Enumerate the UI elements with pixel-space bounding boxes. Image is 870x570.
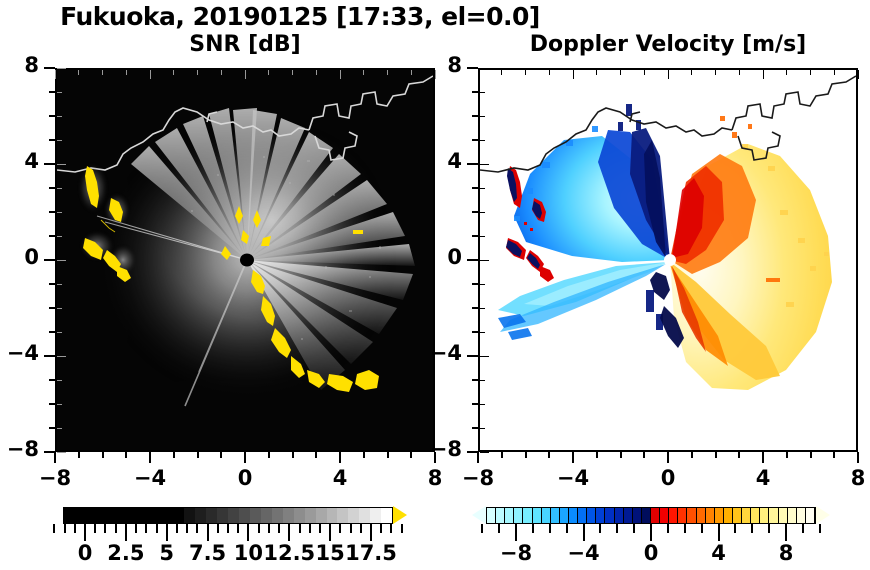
snr-colorbar-tick — [217, 524, 219, 533]
doppler-colorbar-swatch-32 — [779, 508, 788, 523]
doppler-colorbar-tick — [751, 524, 753, 533]
snr-colorbar-tick — [237, 524, 239, 533]
snr-colorbar-swatch-7 — [141, 508, 152, 523]
doppler-colorbar-swatch-4 — [523, 508, 532, 523]
doppler-colorbar-swatch-15 — [624, 508, 633, 523]
doppler-colorbar[interactable] — [486, 507, 816, 524]
snr-colorbar-swatch-1 — [75, 508, 86, 523]
doppler-colorbar-swatch-19 — [660, 508, 669, 523]
doppler-colorbar-swatch-2 — [505, 508, 514, 523]
snr-colorbar-tick — [278, 524, 280, 533]
doppler-colorbar-swatch-22 — [687, 508, 696, 523]
snr-colorbar-swatch-16 — [239, 508, 250, 523]
snr-colorbar-swatch-0 — [64, 508, 75, 523]
doppler-colorbar-swatch-26 — [724, 508, 733, 523]
snr-colorbar-swatch-19 — [272, 508, 283, 523]
snr-colorbar-swatch-17 — [250, 508, 261, 523]
snr-colorbar-swatch-20 — [283, 508, 294, 523]
snr-colorbar[interactable] — [63, 507, 393, 524]
snr-colorbar-tick — [53, 524, 55, 533]
snr-colorbar-swatch-6 — [130, 508, 141, 523]
snr-colorbar-swatch-9 — [162, 508, 173, 523]
doppler-colorbar-swatch-16 — [633, 508, 642, 523]
doppler-colorbar-swatch-21 — [678, 508, 687, 523]
doppler-colorbar-tick — [616, 524, 618, 533]
doppler-colorbar-tick — [532, 524, 534, 533]
snr-colorbar-swatch-8 — [152, 508, 163, 523]
snr-colorbar-swatch-26 — [348, 508, 359, 523]
doppler-colorbar-swatch-20 — [669, 508, 678, 523]
snr-colorbar-swatch-5 — [119, 508, 130, 523]
doppler-colorbar-swatch-35 — [806, 508, 815, 523]
doppler-colorbar-swatch-13 — [605, 508, 614, 523]
doppler-colorbar-extend-min-arrow — [472, 506, 486, 524]
doppler-colorbar-swatch-1 — [496, 508, 505, 523]
doppler-colorbar-tick — [650, 524, 652, 541]
doppler-colorbar-swatch-7 — [551, 508, 560, 523]
doppler-colorbar-tick — [734, 524, 736, 533]
snr-colorbar-tick — [186, 524, 188, 533]
doppler-colorbar-tick — [583, 524, 585, 541]
snr-colorbar-tick — [196, 524, 198, 533]
snr-colorbar-tick — [319, 524, 321, 533]
doppler-colorbar-tick — [566, 524, 568, 533]
snr-colorbar-tick — [268, 524, 270, 533]
doppler-colorbar-tick — [633, 524, 635, 533]
doppler-colorbar-swatch-24 — [706, 508, 715, 523]
snr-colorbar-tick — [145, 524, 147, 533]
snr-colorbar-tick — [360, 524, 362, 533]
snr-colorbar-tick — [94, 524, 96, 533]
snr-colorbar-tick — [135, 524, 137, 533]
doppler-colorbar-tick — [718, 524, 720, 541]
doppler-colorbar-tick — [701, 524, 703, 533]
doppler-colorbar-tick — [802, 524, 804, 533]
snr-colorbar-swatch-23 — [316, 508, 327, 523]
snr-colorbar-tick — [84, 524, 86, 541]
doppler-colorbar-tick — [785, 524, 787, 541]
doppler-colorbar-swatch-27 — [733, 508, 742, 523]
doppler-colorbar-tick — [549, 524, 551, 533]
snr-colorbar-swatch-12 — [195, 508, 206, 523]
snr-colorbar-tick — [125, 524, 127, 541]
snr-colorbar-tick — [227, 524, 229, 533]
snr-colorbar-tick — [64, 524, 66, 533]
snr-colorbar-swatch-3 — [97, 508, 108, 523]
snr-colorbar-tick — [309, 524, 311, 533]
doppler-colorbar-label-4: 8 — [741, 541, 831, 565]
snr-colorbar-swatch-22 — [305, 508, 316, 523]
snr-colorbar-tick — [380, 524, 382, 533]
snr-colorbar-swatch-18 — [261, 508, 272, 523]
snr-colorbar-tick — [166, 524, 168, 541]
snr-colorbar-tick — [156, 524, 158, 533]
snr-colorbar-tick — [74, 524, 76, 533]
snr-colorbar-swatches — [63, 507, 393, 524]
doppler-colorbar-swatch-33 — [788, 508, 797, 523]
doppler-colorbar-swatch-31 — [769, 508, 778, 523]
doppler-colorbar-swatch-29 — [751, 508, 760, 523]
doppler-colorbar-tick — [684, 524, 686, 533]
snr-colorbar-swatch-2 — [86, 508, 97, 523]
doppler-colorbar-swatch-3 — [514, 508, 523, 523]
snr-colorbar-swatch-28 — [370, 508, 381, 523]
snr-colorbar-tick — [350, 524, 352, 533]
snr-colorbar-label-7: 17.5 — [326, 541, 416, 565]
snr-colorbar-swatch-13 — [206, 508, 217, 523]
doppler-colorbar-swatch-8 — [560, 508, 569, 523]
snr-colorbar-tick — [339, 524, 341, 533]
doppler-colorbar-swatch-6 — [542, 508, 551, 523]
snr-colorbar-swatch-4 — [108, 508, 119, 523]
snr-colorbar-swatch-21 — [294, 508, 305, 523]
doppler-colorbar-extend-max-arrow — [816, 506, 830, 524]
doppler-colorbar-swatch-30 — [760, 508, 769, 523]
snr-colorbar-tick — [299, 524, 301, 533]
doppler-colorbar-tick — [498, 524, 500, 533]
doppler-colorbar-swatch-0 — [487, 508, 496, 523]
snr-colorbar-extend-max-arrow — [393, 506, 407, 524]
snr-colorbar-swatch-24 — [327, 508, 338, 523]
snr-colorbar-tick — [390, 524, 392, 533]
snr-colorbar-tick — [207, 524, 209, 541]
snr-colorbar-tick — [370, 524, 372, 541]
doppler-colorbar-swatch-34 — [797, 508, 806, 523]
snr-colorbar-tick — [258, 524, 260, 533]
snr-colorbar-tick — [401, 524, 403, 533]
snr-colorbar-tick — [176, 524, 178, 533]
doppler-colorbar-swatch-28 — [742, 508, 751, 523]
doppler-colorbar-swatch-14 — [615, 508, 624, 523]
snr-colorbar-swatch-14 — [217, 508, 228, 523]
snr-colorbar-tick — [329, 524, 331, 541]
doppler-colorbar-swatch-25 — [715, 508, 724, 523]
snr-colorbar-swatch-10 — [173, 508, 184, 523]
doppler-colorbar-swatch-23 — [697, 508, 706, 523]
snr-colorbar-tick — [247, 524, 249, 541]
doppler-colorbar-swatch-12 — [596, 508, 605, 523]
doppler-colorbar-tick — [667, 524, 669, 533]
doppler-colorbar-swatch-5 — [533, 508, 542, 523]
doppler-colorbar-swatch-11 — [587, 508, 596, 523]
doppler-colorbar-swatch-17 — [642, 508, 651, 523]
snr-colorbar-swatch-29 — [381, 508, 392, 523]
snr-colorbar-tick — [288, 524, 290, 541]
doppler-colorbar-swatch-9 — [569, 508, 578, 523]
doppler-colorbar-tick — [599, 524, 601, 533]
doppler-colorbar-swatch-10 — [578, 508, 587, 523]
colorbar-layer: 02.557.51012.51517.5−8−4048 — [0, 0, 870, 570]
snr-colorbar-tick — [104, 524, 106, 533]
snr-colorbar-swatch-25 — [337, 508, 348, 523]
doppler-colorbar-tick — [768, 524, 770, 533]
snr-colorbar-swatch-11 — [184, 508, 195, 523]
snr-colorbar-swatch-27 — [359, 508, 370, 523]
doppler-colorbar-swatch-18 — [651, 508, 660, 523]
doppler-colorbar-swatches — [486, 507, 816, 524]
snr-colorbar-tick — [115, 524, 117, 533]
doppler-colorbar-tick — [481, 524, 483, 533]
snr-colorbar-swatch-15 — [228, 508, 239, 523]
doppler-colorbar-tick — [515, 524, 517, 541]
doppler-colorbar-tick — [819, 524, 821, 533]
